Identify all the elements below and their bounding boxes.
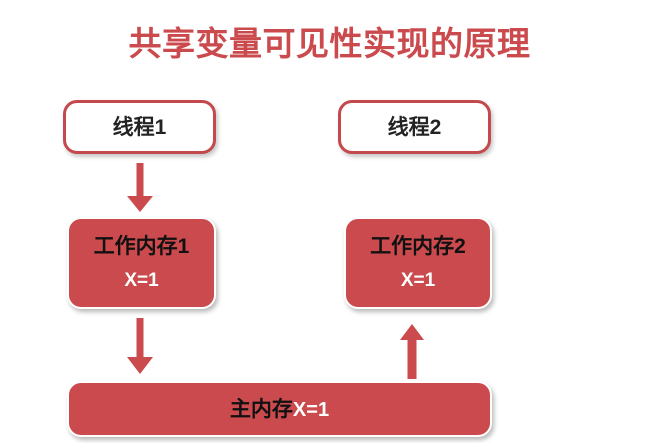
diagram-canvas: 共享变量可见性实现的原理 线程1 线程2 工作内存1 X=1 工作内存2 X=1: [0, 0, 659, 443]
arrow-working-memory1-to-main-memory: [124, 316, 156, 378]
arrow-main-memory-to-working-memory2: [396, 322, 430, 384]
thread1-label: 线程1: [113, 117, 167, 138]
main-memory-box[interactable]: 主内存 X=1: [67, 381, 492, 437]
working-memory1-title: 工作内存1: [94, 236, 190, 257]
working-memory2-value: X=1: [401, 271, 435, 290]
working-memory2-box[interactable]: 工作内存2 X=1: [344, 217, 492, 309]
working-memory2-title: 工作内存2: [370, 236, 466, 257]
thread2-box[interactable]: 线程2: [338, 100, 491, 154]
thread2-label: 线程2: [388, 117, 442, 138]
working-memory1-value: X=1: [124, 271, 158, 290]
page-title: 共享变量可见性实现的原理: [0, 26, 659, 62]
thread1-box[interactable]: 线程1: [63, 100, 216, 154]
arrow-thread1-to-working-memory1: [124, 161, 156, 216]
main-memory-value: X=1: [293, 400, 329, 420]
main-memory-content: 主内存 X=1: [230, 399, 329, 420]
working-memory1-box[interactable]: 工作内存1 X=1: [67, 217, 216, 309]
main-memory-title: 主内存: [230, 399, 293, 420]
